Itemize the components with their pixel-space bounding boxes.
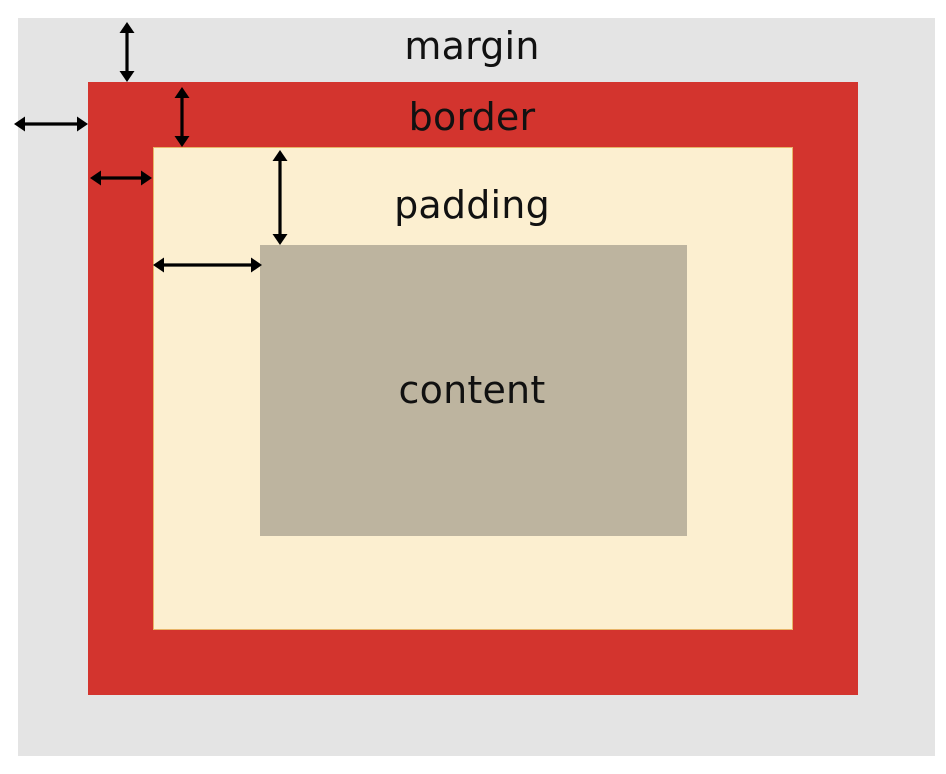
padding-left-arrow bbox=[139, 251, 276, 279]
box-model-diagram: margin border padding content bbox=[0, 0, 946, 774]
border-label: border bbox=[409, 98, 536, 136]
content-label: content bbox=[399, 371, 546, 409]
padding-top-arrow bbox=[266, 136, 294, 259]
padding-label: padding bbox=[394, 186, 550, 224]
border-top-arrow bbox=[168, 73, 196, 161]
margin-top-arrow bbox=[113, 8, 141, 96]
margin-left-arrow bbox=[0, 110, 102, 138]
border-left-arrow bbox=[76, 164, 166, 192]
margin-label: margin bbox=[404, 27, 539, 65]
